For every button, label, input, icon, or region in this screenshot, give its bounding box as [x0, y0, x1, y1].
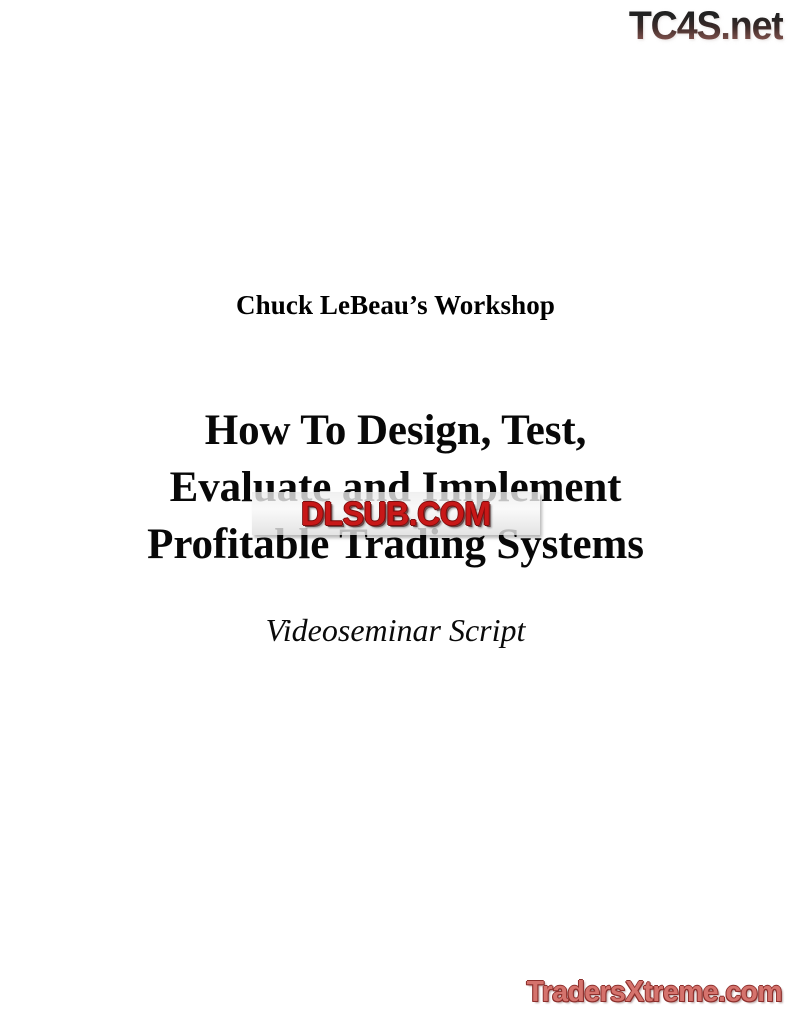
tc4s-watermark-text: TC4S.net — [629, 2, 783, 50]
title-line-1: How To Design, Test, — [0, 402, 791, 459]
tc4s-watermark: TC4S.net TC4S.net — [593, 2, 783, 54]
dlsub-watermark-text: DLSUB.COM — [301, 497, 490, 531]
page-subtitle: Videoseminar Script — [0, 609, 791, 651]
tradersxtreme-watermark-text: TradersXtreme.com — [527, 976, 782, 1008]
presenter-line: Chuck LeBeau’s Workshop — [0, 289, 791, 321]
document-page: TC4S.net TC4S.net Chuck LeBeau’s Worksho… — [0, 0, 791, 1024]
dlsub-watermark: DLSUB.COM — [252, 492, 540, 535]
tradersxtreme-watermark: TradersXtreme.com — [524, 975, 785, 1009]
page-title: How To Design, Test, Evaluate and Implem… — [0, 402, 791, 573]
